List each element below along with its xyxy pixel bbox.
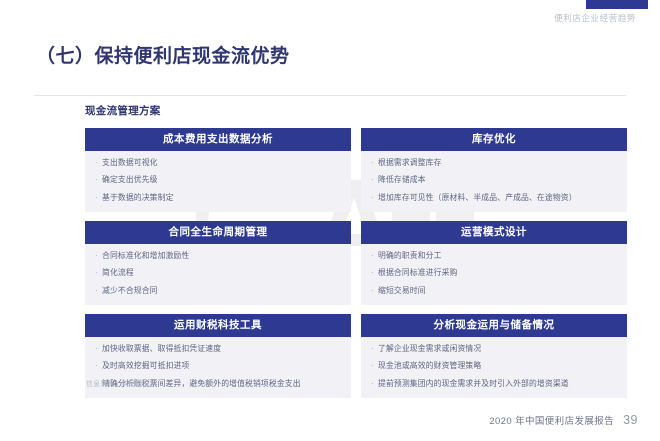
bullet-dot-icon: · (95, 158, 102, 169)
list-item-label: 合同标准化和增加激励性 (102, 251, 343, 262)
card-header: 运用财税科技工具 (85, 314, 351, 337)
bullet-dot-icon: · (371, 361, 378, 372)
bullet-dot-icon: · (371, 193, 378, 204)
list-item-label: 增加库存可见性（原材料、半成品、产成品、在途物资） (378, 193, 619, 204)
card-header: 成本费用支出数据分析 (85, 128, 351, 151)
card-header: 运营模式设计 (361, 221, 627, 244)
card-header: 分析现金运用与储备情况 (361, 314, 627, 337)
card-inventory-optimization: 库存优化 · 根据需求调整库存 · 降低存储成本 · 增加库存可见性（原材料、半… (361, 128, 627, 212)
card-body: · 支出数据可视化 · 确定支出优先级 · 基于数据的决策制定 (85, 151, 351, 213)
bullet-dot-icon: · (371, 286, 378, 297)
list-item-label: 简化流程 (102, 268, 343, 279)
list-item-label: 根据需求调整库存 (378, 158, 619, 169)
list-item-label: 确定支出优先级 (102, 175, 343, 186)
list-item-label: 基于数据的决策制定 (102, 193, 343, 204)
list-item-label: 提前预测集团内的现金需求并及时引入外部的增资渠道 (378, 379, 619, 390)
card-body: · 了解企业现金需求或闲资情况 · 现金池或高效的财资管理策略 · 提前预测集团… (361, 337, 627, 399)
card-body: · 明确的职责和分工 · 根据合同标准进行采购 · 缩短交易时间 (361, 244, 627, 306)
page-number: 39 (623, 414, 638, 428)
list-item: · 减少不合规合同 (95, 286, 343, 297)
card-body: · 加快收取票据、取得抵扣凭证速度 · 及时高效挖掘可抵扣进项 · 精确分析账税… (85, 337, 351, 399)
list-item: · 提前预测集团内的现金需求并及时引入外部的增资渠道 (371, 379, 619, 390)
list-item: · 现金池或高效的财资管理策略 (371, 361, 619, 372)
list-item-label: 加快收取票据、取得抵扣凭证速度 (102, 344, 343, 355)
list-item-label: 根据合同标准进行采购 (378, 268, 619, 279)
bullet-dot-icon: · (371, 379, 378, 390)
list-item: · 合同标准化和增加激励性 (95, 251, 343, 262)
bullet-dot-icon: · (371, 344, 378, 355)
page-title: （七）保持便利店现金流优势 (36, 41, 290, 68)
list-item-label: 明确的职责和分工 (378, 251, 619, 262)
list-item: · 根据需求调整库存 (371, 158, 619, 169)
page-accent-tab (586, 0, 648, 9)
list-item: · 简化流程 (95, 268, 343, 279)
bullet-dot-icon: · (95, 286, 102, 297)
list-item: · 明确的职责和分工 (371, 251, 619, 262)
cash-flow-card-grid: 成本费用支出数据分析 · 支出数据可视化 · 确定支出优先级 · 基于数据的决策… (85, 128, 627, 398)
bullet-dot-icon: · (95, 193, 102, 204)
list-item-label: 了解企业现金需求或闲资情况 (378, 344, 619, 355)
list-item-label: 减少不合规合同 (102, 286, 343, 297)
bullet-dot-icon: · (371, 251, 378, 262)
bullet-dot-icon: · (95, 175, 102, 186)
list-item-label: 现金池或高效的财资管理策略 (378, 361, 619, 372)
bullet-dot-icon: · (371, 268, 378, 279)
source-note: 信息来源：毕马威分析 (86, 378, 157, 388)
list-item: · 降低存储成本 (371, 175, 619, 186)
page-footer: 2020 年中国便利店发展报告 39 (489, 413, 638, 427)
section-label: 现金流管理方案 (85, 103, 161, 118)
report-page: 便利店企业经营趋势 （七）保持便利店现金流优势 现金流管理方案 成本费用支出数据… (0, 0, 660, 441)
card-body: · 合同标准化和增加激励性 · 简化流程 · 减少不合规合同 (85, 244, 351, 306)
list-item: · 支出数据可视化 (95, 158, 343, 169)
card-header: 库存优化 (361, 128, 627, 151)
title-divider (34, 95, 626, 96)
bullet-dot-icon: · (371, 175, 378, 186)
bullet-dot-icon: · (95, 361, 102, 372)
card-header: 合同全生命周期管理 (85, 221, 351, 244)
card-contract-lifecycle-management: 合同全生命周期管理 · 合同标准化和增加激励性 · 简化流程 · 减少不合规合同 (85, 221, 351, 305)
list-item: · 根据合同标准进行采购 (371, 268, 619, 279)
footer-report-title: 2020 年中国便利店发展报告 (489, 413, 614, 427)
bullet-dot-icon: · (95, 344, 102, 355)
list-item: · 确定支出优先级 (95, 175, 343, 186)
list-item-label: 缩短交易时间 (378, 286, 619, 297)
list-item: · 基于数据的决策制定 (95, 193, 343, 204)
running-header: 便利店企业经营趋势 (554, 12, 636, 24)
bullet-dot-icon: · (371, 158, 378, 169)
list-item: · 增加库存可见性（原材料、半成品、产成品、在途物资） (371, 193, 619, 204)
bullet-dot-icon: · (95, 251, 102, 262)
card-operating-model-design: 运营模式设计 · 明确的职责和分工 · 根据合同标准进行采购 · 缩短交易时间 (361, 221, 627, 305)
bullet-dot-icon: · (95, 268, 102, 279)
list-item: · 缩短交易时间 (371, 286, 619, 297)
card-body: · 根据需求调整库存 · 降低存储成本 · 增加库存可见性（原材料、半成品、产成… (361, 151, 627, 213)
list-item: · 及时高效挖掘可抵扣进项 (95, 361, 343, 372)
card-cost-expense-analysis: 成本费用支出数据分析 · 支出数据可视化 · 确定支出优先级 · 基于数据的决策… (85, 128, 351, 212)
list-item-label: 降低存储成本 (378, 175, 619, 186)
list-item: · 加快收取票据、取得抵扣凭证速度 (95, 344, 343, 355)
list-item: · 了解企业现金需求或闲资情况 (371, 344, 619, 355)
list-item-label: 及时高效挖掘可抵扣进项 (102, 361, 343, 372)
list-item-label: 支出数据可视化 (102, 158, 343, 169)
card-cash-usage-reserve-analysis: 分析现金运用与储备情况 · 了解企业现金需求或闲资情况 · 现金池或高效的财资管… (361, 314, 627, 398)
